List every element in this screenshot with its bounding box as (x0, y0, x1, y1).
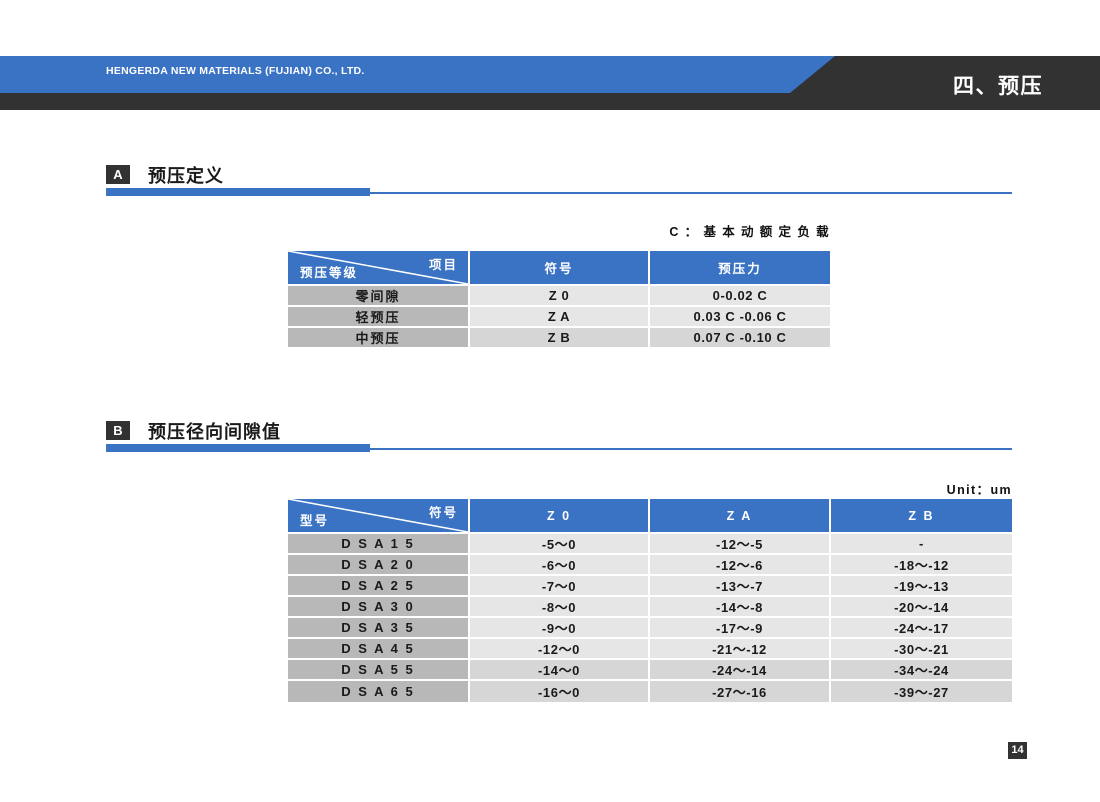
cell-za: -13～-7 (650, 576, 831, 597)
cell-symbol: Z A (470, 307, 650, 328)
preload-definition-table: 项目 预压等级 符号 预压力 零间隙 Z 0 0-0.02 C 轻预压 Z A … (288, 251, 830, 349)
table-row: D S A 3 5 -9～0 -17～-9 -24～-17 (288, 618, 1012, 639)
section-heading-b: B 预压径向间隙值 (106, 418, 1012, 458)
cell-model: D S A 6 5 (288, 681, 470, 702)
header-corner-cell-b: 符号 型号 (288, 499, 470, 534)
cell-z0: -9～0 (470, 618, 650, 639)
section-title-b: 预压径向间隙值 (148, 418, 281, 444)
cell-za: -12～-6 (650, 555, 831, 576)
table-header-row: 符号 型号 Z 0 Z A Z B (288, 499, 1012, 534)
preload-definition-body: 零间隙 Z 0 0-0.02 C 轻预压 Z A 0.03 C -0.06 C … (288, 286, 830, 349)
cell-model: D S A 5 5 (288, 660, 470, 681)
corner-label-item: 项目 (429, 254, 458, 273)
corner-label-level: 预压等级 (300, 262, 358, 281)
load-rating-note: C ： 基 本 动 额 定 负 载 (106, 221, 830, 240)
cell-force: 0.03 C -0.06 C (650, 307, 830, 328)
cell-model: D S A 4 5 (288, 639, 470, 660)
cell-z0: -6～0 (470, 555, 650, 576)
table-header-row: 项目 预压等级 符号 预压力 (288, 251, 830, 286)
cell-za: -14～-8 (650, 597, 831, 618)
cell-symbol: Z 0 (470, 286, 650, 307)
cell-zb: -20～-14 (831, 597, 1012, 618)
cell-z0: -7～0 (470, 576, 650, 597)
section-rule-thick-a (106, 188, 370, 196)
cell-zb: -19～-13 (831, 576, 1012, 597)
header-corner-cell-a: 项目 预压等级 (288, 251, 470, 286)
table-row: D S A 1 5 -5～0 -12～-5 - (288, 534, 1012, 555)
document-page: HENGERDA NEW MATERIALS (FUJIAN) CO., LTD… (0, 0, 1100, 802)
chapter-title: 四、预压 (953, 70, 1043, 100)
cell-level: 零间隙 (288, 286, 470, 307)
cell-za: -27～-16 (650, 681, 831, 702)
column-header-z0: Z 0 (470, 499, 650, 534)
section-title-a: 预压定义 (148, 162, 224, 188)
table-row: 零间隙 Z 0 0-0.02 C (288, 286, 830, 307)
cell-zb: -18～-12 (831, 555, 1012, 576)
cell-z0: -14～0 (470, 660, 650, 681)
cell-z0: -8～0 (470, 597, 650, 618)
cell-z0: -5～0 (470, 534, 650, 555)
unit-note: Unit：um (106, 479, 1012, 498)
cell-zb: - (831, 534, 1012, 555)
column-header-symbol: 符号 (470, 251, 650, 286)
section-heading-a: A 预压定义 (106, 162, 1012, 202)
table-row: D S A 3 0 -8～0 -14～-8 -20～-14 (288, 597, 1012, 618)
cell-model: D S A 1 5 (288, 534, 470, 555)
table-row: D S A 2 0 -6～0 -12～-6 -18～-12 (288, 555, 1012, 576)
table-row: D S A 2 5 -7～0 -13～-7 -19～-13 (288, 576, 1012, 597)
corner-label-symbol: 符号 (429, 502, 458, 521)
cell-symbol: Z B (470, 328, 650, 349)
column-header-za: Z A (650, 499, 831, 534)
cell-za: -21～-12 (650, 639, 831, 660)
cell-zb: -34～-24 (831, 660, 1012, 681)
radial-clearance-body: D S A 1 5 -5～0 -12～-5 - D S A 2 0 -6～0 -… (288, 534, 1012, 702)
table-row: D S A 5 5 -14～0 -24～-14 -34～-24 (288, 660, 1012, 681)
cell-za: -17～-9 (650, 618, 831, 639)
cell-zb: -24～-17 (831, 618, 1012, 639)
page-number-badge: 14 (1008, 742, 1027, 759)
cell-za: -24～-14 (650, 660, 831, 681)
corner-label-model: 型号 (300, 510, 329, 529)
cell-model: D S A 2 0 (288, 555, 470, 576)
column-header-force: 预压力 (650, 251, 830, 286)
table-row: D S A 6 5 -16～0 -27～-16 -39～-27 (288, 681, 1012, 702)
cell-za: -12～-5 (650, 534, 831, 555)
cell-force: 0-0.02 C (650, 286, 830, 307)
table-row: D S A 4 5 -12～0 -21～-12 -30～-21 (288, 639, 1012, 660)
cell-z0: -12～0 (470, 639, 650, 660)
cell-zb: -30～-21 (831, 639, 1012, 660)
cell-level: 轻预压 (288, 307, 470, 328)
cell-model: D S A 3 0 (288, 597, 470, 618)
column-header-zb: Z B (831, 499, 1012, 534)
cell-zb: -39～-27 (831, 681, 1012, 702)
section-badge-a: A (106, 165, 130, 184)
section-badge-b: B (106, 421, 130, 440)
section-rule-thick-b (106, 444, 370, 452)
cell-z0: -16～0 (470, 681, 650, 702)
table-row: 中预压 Z B 0.07 C -0.10 C (288, 328, 830, 349)
cell-model: D S A 2 5 (288, 576, 470, 597)
company-name: HENGERDA NEW MATERIALS (FUJIAN) CO., LTD… (106, 65, 365, 77)
table-row: 轻预压 Z A 0.03 C -0.06 C (288, 307, 830, 328)
page-header: HENGERDA NEW MATERIALS (FUJIAN) CO., LTD… (0, 56, 1100, 110)
cell-force: 0.07 C -0.10 C (650, 328, 830, 349)
cell-level: 中预压 (288, 328, 470, 349)
radial-clearance-table: 符号 型号 Z 0 Z A Z B D S A 1 5 -5～0 -12～-5 … (288, 499, 1012, 702)
cell-model: D S A 3 5 (288, 618, 470, 639)
